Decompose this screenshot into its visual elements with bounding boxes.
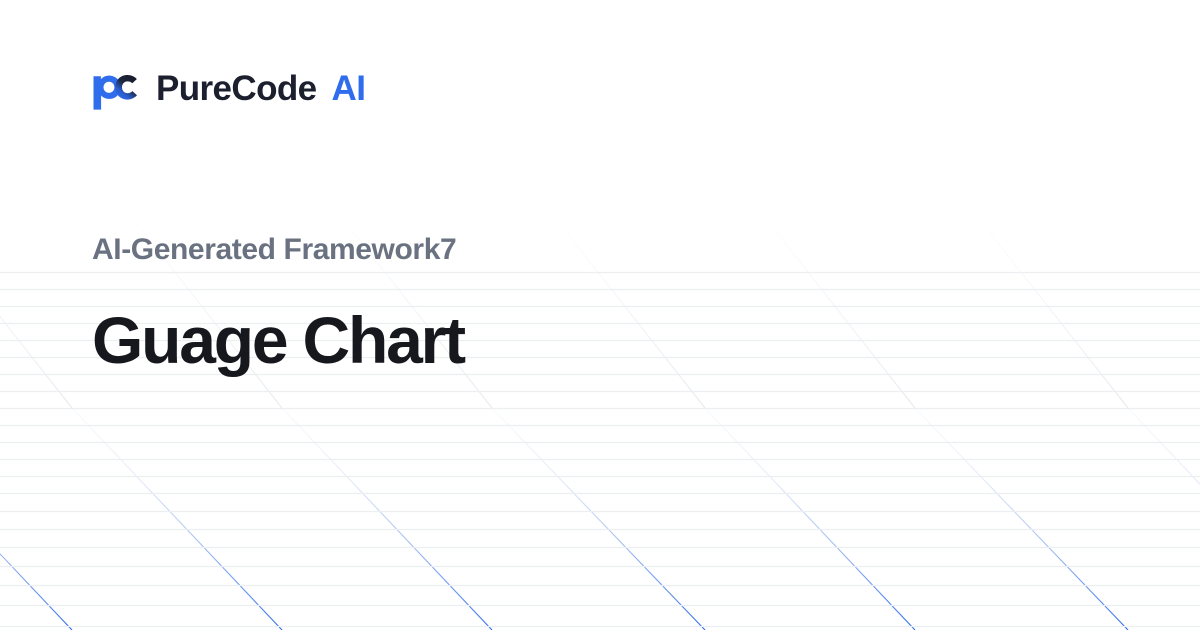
brand-wordmark: PureCode AI [156,71,365,106]
brand-name-text: PureCode [156,71,317,106]
purecode-pc-monogram-icon [92,66,138,110]
page-title: Guage Chart [92,305,464,376]
card-content: PureCode AI AI-Generated Framework7 Guag… [0,0,1200,630]
brand-lockup[interactable]: PureCode AI [92,62,365,114]
brand-suffix-text: AI [332,71,366,106]
eyebrow-label: AI-Generated Framework7 [92,233,456,266]
